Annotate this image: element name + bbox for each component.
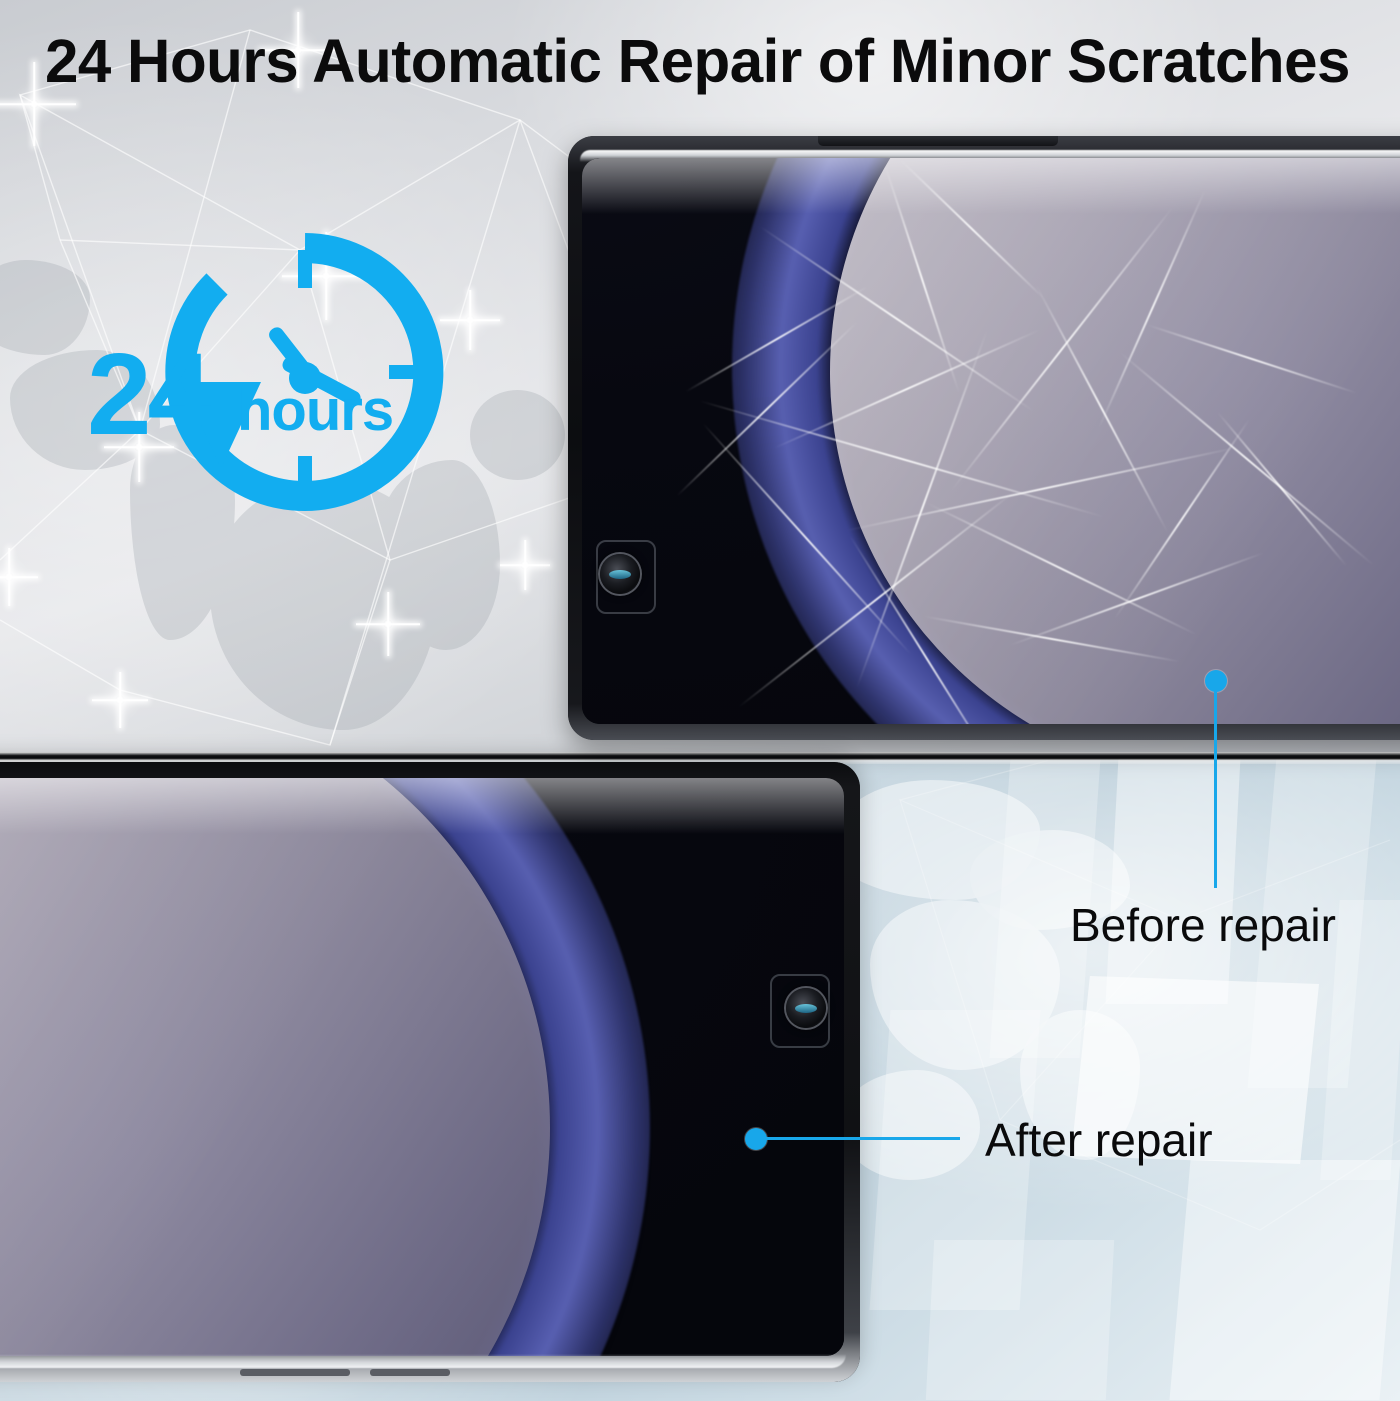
before-repair-label: Before repair [1070, 898, 1336, 952]
badge-24-hours: 24 hours [165, 232, 445, 512]
phone-screen-before [582, 158, 1400, 724]
phone-screen-after [0, 778, 844, 1356]
after-repair-leader [764, 1137, 960, 1140]
product-feature-banner: 24 Hours Automatic Repair of Minor Scrat… [0, 0, 1400, 1401]
after-repair-label: After repair [985, 1113, 1213, 1167]
phone-repaired [0, 762, 860, 1382]
badge-unit: hours [237, 382, 393, 440]
before-repair-leader [1214, 684, 1217, 888]
page-title: 24 Hours Automatic Repair of Minor Scrat… [45, 26, 1350, 96]
phone-scratched [568, 136, 1400, 740]
phone-side-buttons [240, 1369, 540, 1376]
wallpaper [0, 778, 844, 1356]
wallpaper [582, 158, 1400, 724]
camera-icon [600, 554, 640, 594]
camera-icon [786, 988, 826, 1028]
phone-edge-highlight [0, 1354, 846, 1368]
badge-number: 24 [87, 336, 208, 452]
phone-top-nub [818, 136, 1058, 146]
